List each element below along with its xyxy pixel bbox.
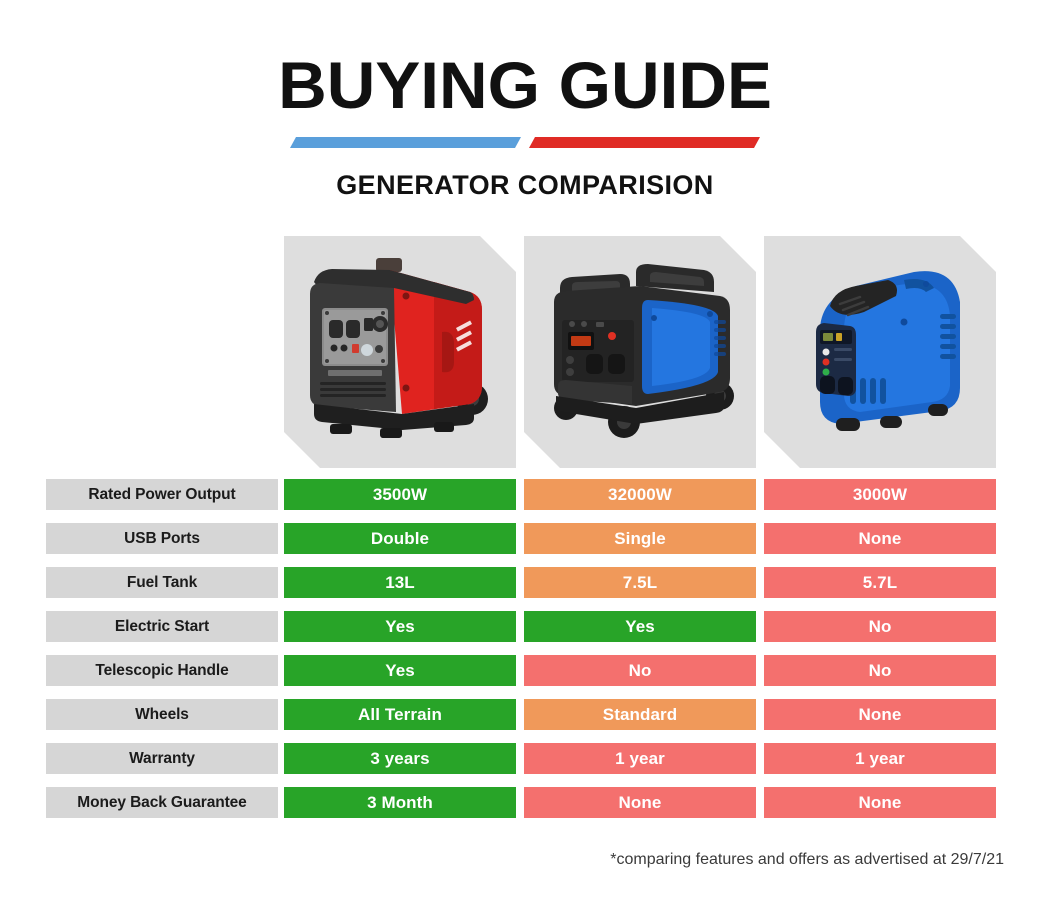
page-subtitle: GENERATOR COMPARISION (0, 170, 1050, 201)
product-image-1[interactable] (284, 236, 516, 468)
feature-value-cell: 3 Month (284, 787, 516, 818)
page-title: BUYING GUIDE (0, 52, 1050, 118)
feature-value-cell: All Terrain (284, 699, 516, 730)
table-row: Fuel Tank13L7.5L5.7L (46, 567, 1004, 598)
feature-value-cell: None (764, 523, 996, 554)
feature-value-cell: No (524, 655, 756, 686)
feature-label: USB Ports (46, 523, 278, 554)
black-blue-generator-icon (524, 236, 756, 468)
feature-label: Rated Power Output (46, 479, 278, 510)
feature-value-cell: 7.5L (524, 567, 756, 598)
table-row: Electric StartYesYesNo (46, 611, 1004, 642)
feature-value-cell: 5.7L (764, 567, 996, 598)
table-row: Telescopic HandleYesNoNo (46, 655, 1004, 686)
feature-value-cell: Yes (284, 611, 516, 642)
table-row: Money Back Guarantee3 MonthNoneNone (46, 787, 1004, 818)
product-row-label-spacer (46, 236, 284, 468)
feature-label: Fuel Tank (46, 567, 278, 598)
feature-value-cell: 3 years (284, 743, 516, 774)
feature-value-cell: 13L (284, 567, 516, 598)
table-row: USB PortsDoubleSingleNone (46, 523, 1004, 554)
table-row: WheelsAll TerrainStandardNone (46, 699, 1004, 730)
feature-value-cell: 32000W (524, 479, 756, 510)
divider-blue-segment (290, 137, 521, 148)
feature-value-cell: Yes (524, 611, 756, 642)
feature-label: Money Back Guarantee (46, 787, 278, 818)
product-image-2[interactable] (524, 236, 756, 468)
feature-label: Warranty (46, 743, 278, 774)
red-black-generator-icon (284, 236, 516, 468)
footnote: *comparing features and offers as advert… (0, 851, 1004, 869)
feature-label: Telescopic Handle (46, 655, 278, 686)
divider-red-segment (529, 137, 760, 148)
feature-value-cell: 1 year (764, 743, 996, 774)
feature-value-cell: Double (284, 523, 516, 554)
feature-value-cell: 3000W (764, 479, 996, 510)
buying-guide-page: BUYING GUIDE GENERATOR COMPARISION (0, 0, 1050, 900)
feature-value-cell: Standard (524, 699, 756, 730)
product-image-row (46, 236, 1004, 468)
comparison-table: Rated Power Output3500W32000W3000WUSB Po… (46, 479, 1004, 818)
feature-value-cell: None (764, 699, 996, 730)
title-divider (290, 137, 760, 148)
feature-label: Wheels (46, 699, 278, 730)
table-row: Rated Power Output3500W32000W3000W (46, 479, 1004, 510)
feature-value-cell: 3500W (284, 479, 516, 510)
blue-generator-icon (764, 236, 996, 468)
feature-value-cell: 1 year (524, 743, 756, 774)
product-image-3[interactable] (764, 236, 996, 468)
feature-label: Electric Start (46, 611, 278, 642)
feature-value-cell: None (764, 787, 996, 818)
feature-value-cell: No (764, 655, 996, 686)
feature-value-cell: No (764, 611, 996, 642)
feature-value-cell: Single (524, 523, 756, 554)
feature-value-cell: Yes (284, 655, 516, 686)
feature-value-cell: None (524, 787, 756, 818)
table-row: Warranty3 years1 year1 year (46, 743, 1004, 774)
header: BUYING GUIDE GENERATOR COMPARISION (0, 0, 1050, 201)
